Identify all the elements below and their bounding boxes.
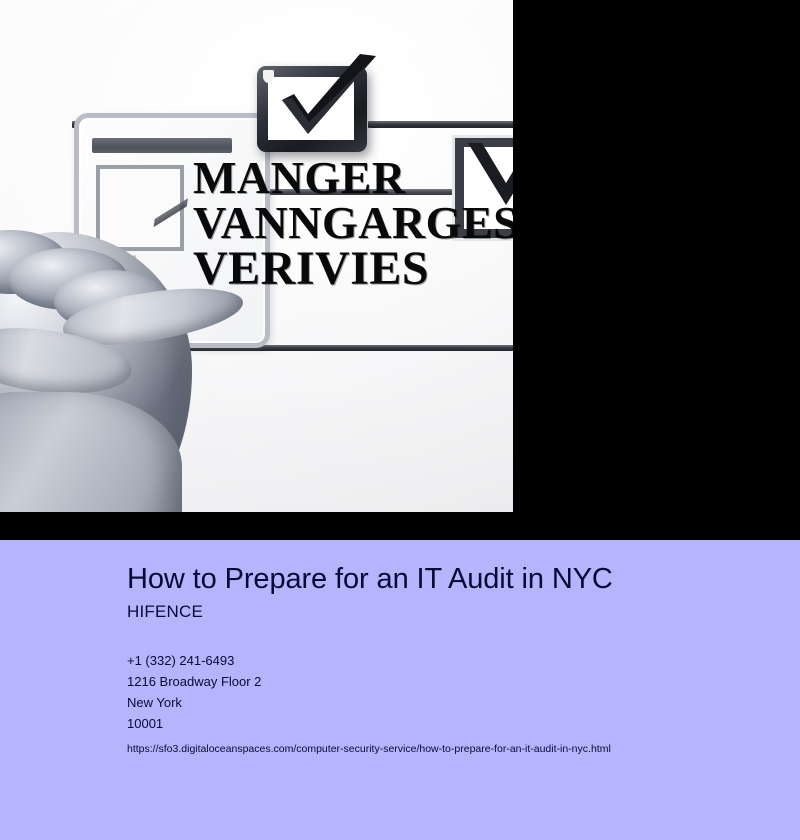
meta-content: How to Prepare for an IT Audit in NYC HI… [127,562,776,757]
contact-city: New York [127,692,776,713]
checklist-headline-line-1: MANGER [193,155,513,200]
page-title: How to Prepare for an IT Audit in NYC [127,562,776,596]
brand-name: HIFENCE [127,602,776,622]
hand-with-pen-illustration [0,196,242,512]
checklist-rule-line [368,121,513,128]
contact-street: 1216 Broadway Floor 2 [127,671,776,692]
hero-photo: MANGER VANNGARGES VERIVIES [0,0,513,512]
contact-phone[interactable]: +1 (332) 241-6493 [127,650,776,671]
source-url[interactable]: https://sfo3.digitaloceanspaces.com/comp… [127,743,776,757]
checkmark-icon [268,52,386,148]
checked-checkbox-icon [257,66,367,152]
clipboard-clip [92,138,232,153]
hero-band: MANGER VANNGARGES VERIVIES [0,0,800,540]
contact-block: +1 (332) 241-6493 1216 Broadway Floor 2 … [127,650,776,734]
contact-postal-code: 10001 [127,713,776,734]
meta-panel: How to Prepare for an IT Audit in NYC HI… [0,540,800,840]
